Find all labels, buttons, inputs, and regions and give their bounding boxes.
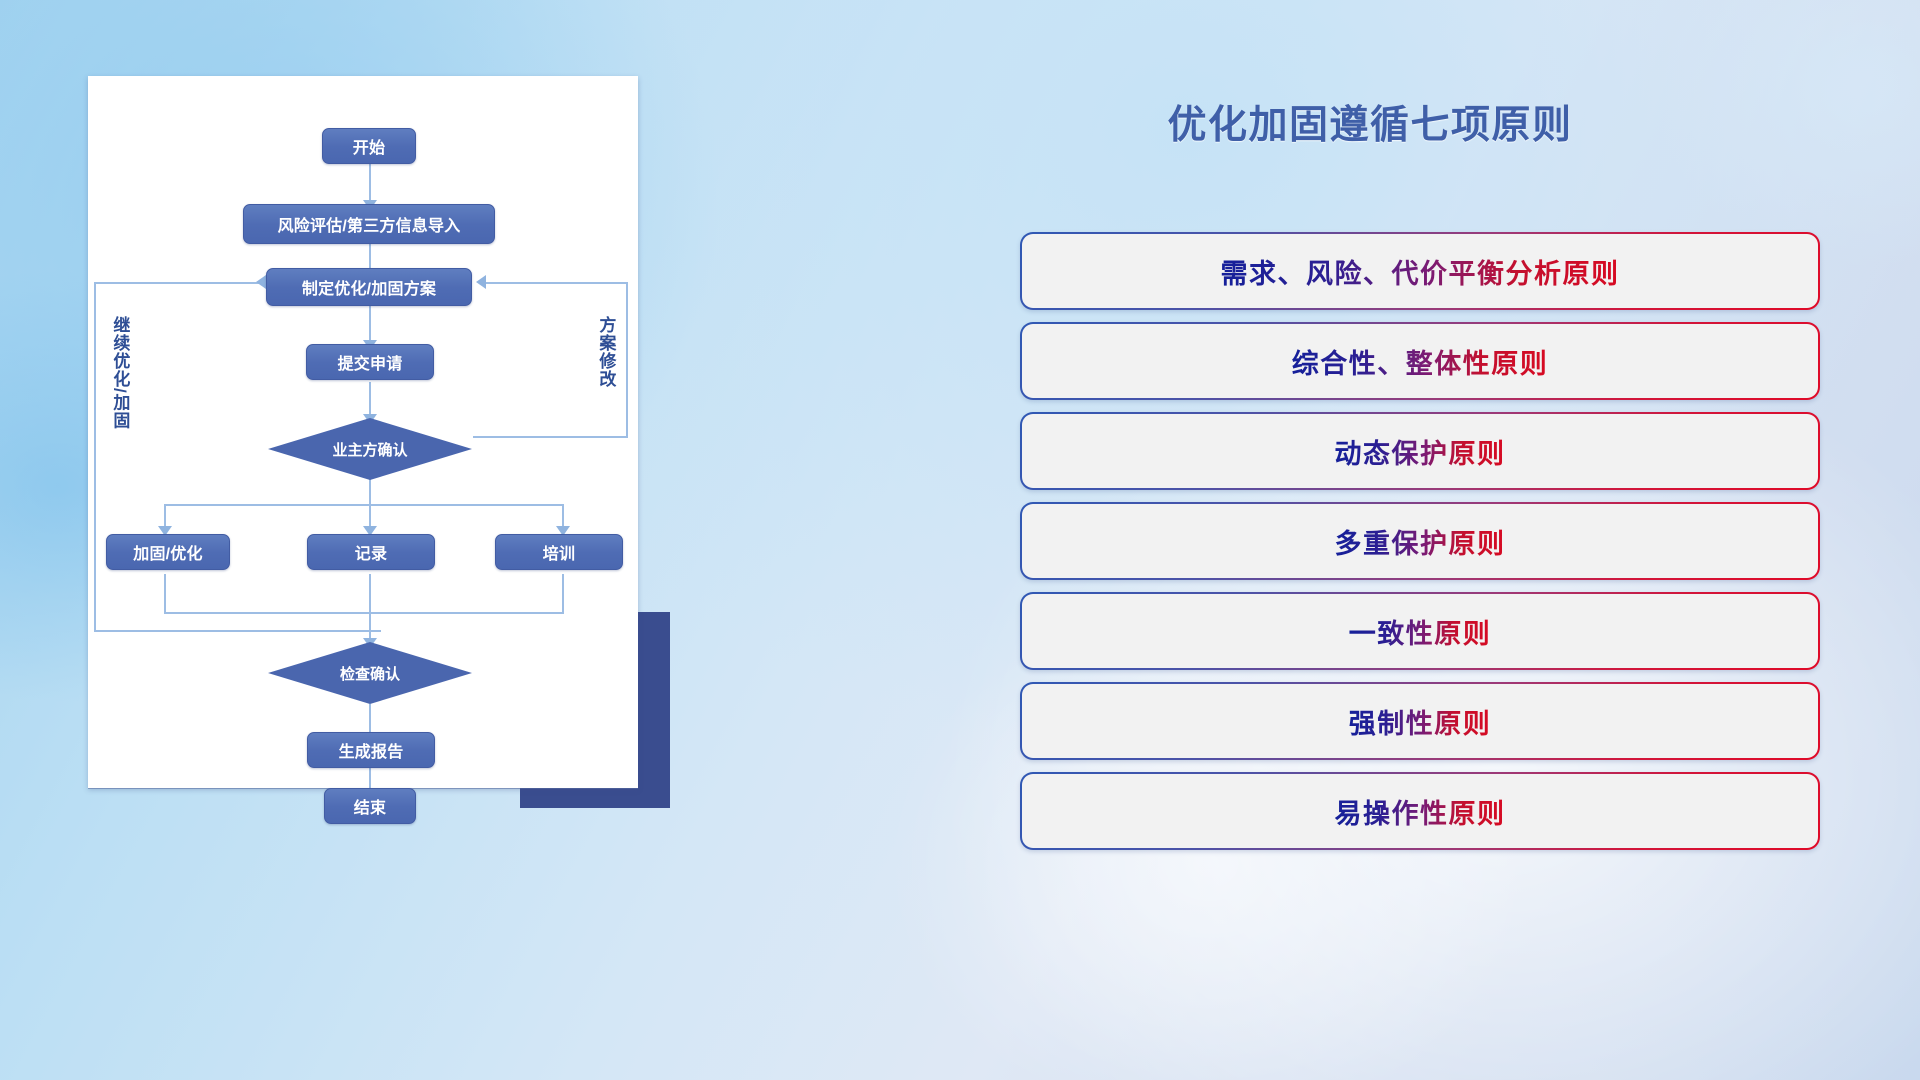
principle-label: 多重保护原则 — [1335, 522, 1506, 561]
principle-card-7[interactable]: 易操作性原则 — [1020, 772, 1820, 850]
loop-line-left-top — [94, 282, 264, 284]
principle-card-6[interactable]: 强制性原则 — [1020, 682, 1820, 760]
loop-arrow-right-into-plan — [476, 275, 486, 289]
node-owner-confirm[interactable]: 业主方确认 — [268, 418, 472, 480]
node-check-confirm[interactable]: 检查确认 — [268, 642, 472, 704]
principle-label: 易操作性原则 — [1335, 792, 1506, 831]
node-reinforce-optimize[interactable]: 加固/优化 — [106, 534, 230, 570]
principle-card-3[interactable]: 动态保护原则 — [1020, 412, 1820, 490]
side-label-continue-optimize: 继续优化/加固 — [110, 316, 128, 430]
principle-label: 需求、风险、代价平衡分析原则 — [1221, 252, 1620, 291]
loop-line-right-top — [484, 282, 628, 284]
node-record[interactable]: 记录 — [307, 534, 435, 570]
principles-panel: 优化加固遵循七项原则 需求、风险、代价平衡分析原则 综合性、整体性原则 动态保护… — [1020, 80, 1840, 1010]
principle-label: 强制性原则 — [1349, 702, 1492, 741]
edge-start-to-risk — [369, 164, 371, 204]
principle-label: 综合性、整体性原则 — [1292, 342, 1549, 381]
edge-plan-to-submit — [369, 304, 371, 344]
principle-label: 一致性原则 — [1349, 612, 1492, 651]
edge-submit-to-owner — [369, 382, 371, 418]
edge-owner-to-bus — [369, 478, 371, 506]
loop-line-right-vertical — [626, 282, 628, 438]
merge-bus — [164, 612, 564, 614]
flowchart-panel: 继续优化/加固 方案修改 开始 风险评估/第三方信息导入 — [88, 76, 666, 808]
principle-card-1[interactable]: 需求、风险、代价平衡分析原则 — [1020, 232, 1820, 310]
flowchart-card: 继续优化/加固 方案修改 开始 风险评估/第三方信息导入 — [88, 76, 638, 788]
principle-card-2[interactable]: 综合性、整体性原则 — [1020, 322, 1820, 400]
node-make-plan[interactable]: 制定优化/加固方案 — [266, 268, 472, 306]
principles-list: 需求、风险、代价平衡分析原则 综合性、整体性原则 动态保护原则 多重保护原则 一… — [1020, 232, 1820, 862]
loop-line-right-bottom — [473, 436, 628, 438]
node-risk-assessment[interactable]: 风险评估/第三方信息导入 — [243, 204, 495, 244]
side-label-plan-revision: 方案修改 — [596, 316, 614, 388]
node-end[interactable]: 结束 — [324, 788, 416, 824]
page-title: 优化加固遵循七项原则 — [1020, 94, 1720, 150]
merge-up-mid — [369, 574, 371, 614]
loop-line-left-vertical — [94, 282, 96, 632]
node-submit-application[interactable]: 提交申请 — [306, 344, 434, 380]
loop-arrow-left-into-plan — [256, 275, 266, 289]
loop-line-left-bottom — [94, 630, 381, 632]
merge-up-right — [562, 574, 564, 614]
principle-label: 动态保护原则 — [1335, 432, 1506, 471]
principle-card-5[interactable]: 一致性原则 — [1020, 592, 1820, 670]
node-start[interactable]: 开始 — [322, 128, 416, 164]
node-generate-report[interactable]: 生成报告 — [307, 732, 435, 768]
principle-card-4[interactable]: 多重保护原则 — [1020, 502, 1820, 580]
node-training[interactable]: 培训 — [495, 534, 623, 570]
merge-up-left — [164, 574, 166, 614]
branch-bus-top — [164, 504, 564, 506]
